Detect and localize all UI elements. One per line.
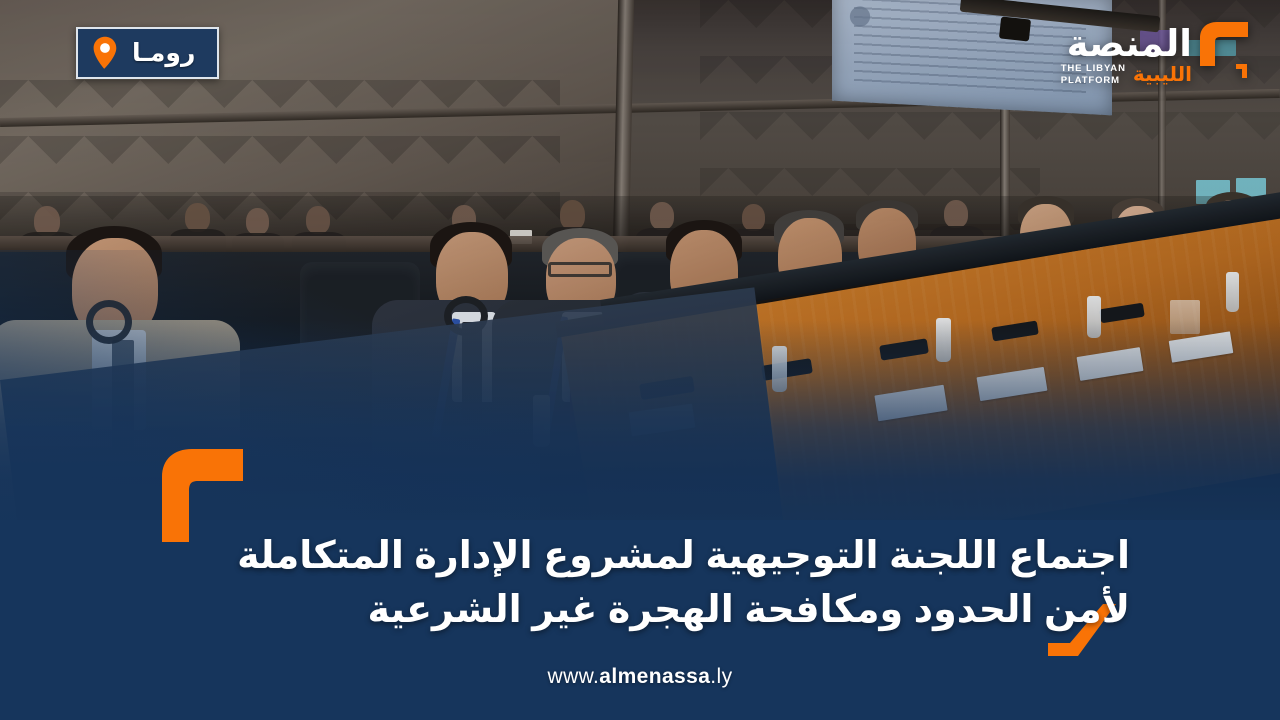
url-name: almenassa [599,665,710,688]
brand-logo: المنصة THE LIBYAN PLATFORM الليبية [1061,20,1252,86]
brand-subline: THE LIBYAN PLATFORM الليبية [1061,63,1192,86]
left-gradient-overlay [0,250,540,720]
url-prefix: www. [548,665,600,688]
brand-english-line1: THE LIBYAN [1061,63,1126,74]
news-card: رومـا المنصة THE LIBYAN PLATFORM الليبية [0,0,1280,720]
brand-english-name: THE LIBYAN PLATFORM [1061,63,1126,86]
location-label: رومـا [132,41,195,66]
brand-wordmark: المنصة THE LIBYAN PLATFORM الليبية [1061,20,1192,86]
location-badge: رومـا [76,27,219,79]
brand-arabic-qualifier: الليبية [1133,65,1192,85]
url-suffix: .ly [710,665,732,688]
almenassa-logo-mark-icon [1198,20,1252,80]
brand-english-line2: PLATFORM [1061,75,1120,86]
website-url[interactable]: www.almenassa.ly [0,665,1280,689]
brand-arabic-name: المنصة [1067,26,1192,61]
headline: اجتماع اللجنة التوجيهية لمشروع الإدارة ا… [190,530,1130,638]
location-pin-icon [92,36,118,70]
orange-bracket-icon [160,447,245,542]
